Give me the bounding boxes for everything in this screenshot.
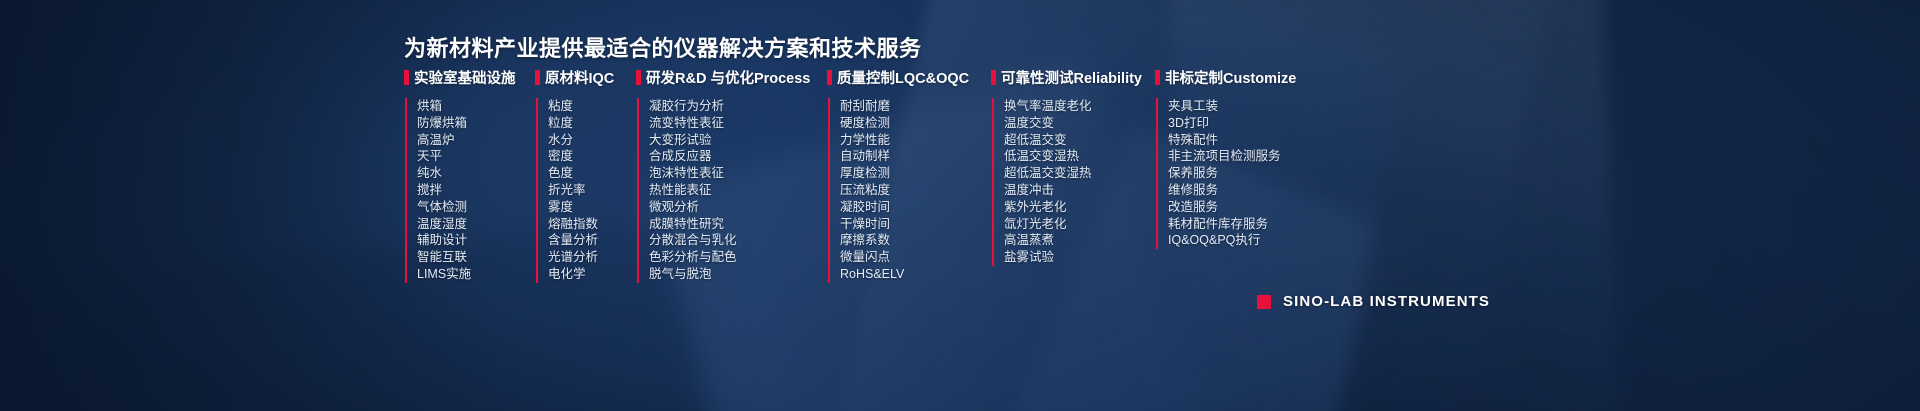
list-item[interactable]: 纯水 [417,165,535,182]
red-bar-icon [827,70,832,85]
category-columns: 实验室基础设施 烘箱 防爆烘箱 高温炉 天平 纯水 搅拌 气体检测 温度湿度 辅… [404,69,1335,283]
category-header-label: 质量控制LQC&OQC [837,67,969,88]
list-item[interactable]: 超低温交变湿热 [1004,165,1155,182]
category-header-label: 非标定制Customize [1165,67,1296,88]
category-column-lab-infrastructure: 实验室基础设施 烘箱 防爆烘箱 高温炉 天平 纯水 搅拌 气体检测 温度湿度 辅… [404,69,535,283]
list-item[interactable]: 温度冲击 [1004,182,1155,199]
list-item[interactable]: 温度交变 [1004,115,1155,132]
list-item[interactable]: 折光率 [548,182,636,199]
category-header-label: 实验室基础设施 [414,67,516,88]
list-item[interactable]: 粘度 [548,98,636,115]
list-item[interactable]: 压流粘度 [840,182,991,199]
list-item[interactable]: 合成反应器 [649,148,827,165]
red-bar-icon [535,70,540,85]
red-bar-icon [404,70,409,85]
category-header: 实验室基础设施 [404,69,535,86]
list-item[interactable]: 换气率温度老化 [1004,98,1155,115]
category-header-label: 可靠性测试Reliability [1001,67,1142,88]
list-item[interactable]: 色彩分析与配色 [649,249,827,266]
list-item[interactable]: 干燥时间 [840,216,991,233]
list-item[interactable]: 大变形试验 [649,132,827,149]
list-item[interactable]: 防爆烘箱 [417,115,535,132]
list-item[interactable]: 含量分析 [548,232,636,249]
list-item[interactable]: 维修服务 [1168,182,1335,199]
category-header: 非标定制Customize [1155,69,1335,86]
list-item[interactable]: IQ&OQ&PQ执行 [1168,232,1335,249]
list-item[interactable]: 成膜特性研究 [649,216,827,233]
brand-footer: SINO-LAB INSTRUMENTS [1257,293,1490,310]
red-bar-icon [636,70,641,85]
category-item-list: 粘度 粒度 水分 密度 色度 折光率 雾度 熔融指数 含量分析 光谱分析 电化学 [536,98,636,283]
category-header: 原材料IQC [535,69,636,86]
list-item[interactable]: 保养服务 [1168,165,1335,182]
list-item[interactable]: 力学性能 [840,132,991,149]
category-item-list: 夹具工装 3D打印 特殊配件 非主流项目检测服务 保养服务 维修服务 改造服务 … [1156,98,1335,249]
list-item[interactable]: 特殊配件 [1168,132,1335,149]
category-column-rd-process: 研发R&D 与优化Process 凝胶行为分析 流变特性表征 大变形试验 合成反… [636,69,827,283]
list-item[interactable]: 智能互联 [417,249,535,266]
list-item[interactable]: 天平 [417,148,535,165]
list-item[interactable]: 自动制样 [840,148,991,165]
list-item[interactable]: 氙灯光老化 [1004,216,1155,233]
category-header: 可靠性测试Reliability [991,69,1155,86]
list-item[interactable]: 3D打印 [1168,115,1335,132]
list-item[interactable]: 热性能表征 [649,182,827,199]
list-item[interactable]: 微观分析 [649,199,827,216]
list-item[interactable]: 泡沫特性表征 [649,165,827,182]
list-item[interactable]: 摩擦系数 [840,232,991,249]
list-item[interactable]: 温度湿度 [417,216,535,233]
brand-name: SINO-LAB INSTRUMENTS [1283,293,1490,310]
category-column-raw-material-iqc: 原材料IQC 粘度 粒度 水分 密度 色度 折光率 雾度 熔融指数 含量分析 光… [535,69,636,283]
list-item[interactable]: 光谱分析 [548,249,636,266]
category-item-list: 换气率温度老化 温度交变 超低温交变 低温交变湿热 超低温交变湿热 温度冲击 紫… [992,98,1155,266]
list-item[interactable]: 电化学 [548,266,636,283]
category-item-list: 烘箱 防爆烘箱 高温炉 天平 纯水 搅拌 气体检测 温度湿度 辅助设计 智能互联… [405,98,535,283]
red-bar-icon [991,70,996,85]
category-column-quality-control: 质量控制LQC&OQC 耐刮耐磨 硬度检测 力学性能 自动制样 厚度检测 压流粘… [827,69,991,283]
category-header-label: 研发R&D 与优化Process [646,67,810,88]
red-square-logo-icon [1257,295,1271,309]
list-item[interactable]: 雾度 [548,199,636,216]
page-title: 为新材料产业提供最适合的仪器解决方案和技术服务 [404,31,922,63]
category-header: 研发R&D 与优化Process [636,69,827,86]
category-column-reliability: 可靠性测试Reliability 换气率温度老化 温度交变 超低温交变 低温交变… [991,69,1155,266]
list-item[interactable]: 色度 [548,165,636,182]
list-item[interactable]: 高温蒸煮 [1004,232,1155,249]
list-item[interactable]: 盐雾试验 [1004,249,1155,266]
list-item[interactable]: 紫外光老化 [1004,199,1155,216]
list-item[interactable]: 密度 [548,148,636,165]
list-item[interactable]: 搅拌 [417,182,535,199]
red-bar-icon [1155,70,1160,85]
list-item[interactable]: 厚度检测 [840,165,991,182]
list-item[interactable]: RoHS&ELV [840,266,991,283]
list-item[interactable]: 高温炉 [417,132,535,149]
list-item[interactable]: 低温交变湿热 [1004,148,1155,165]
list-item[interactable]: 水分 [548,132,636,149]
list-item[interactable]: 烘箱 [417,98,535,115]
list-item[interactable]: 耐刮耐磨 [840,98,991,115]
category-header-label: 原材料IQC [545,67,614,88]
list-item[interactable]: 微量闪点 [840,249,991,266]
list-item[interactable]: 耗材配件库存服务 [1168,216,1335,233]
list-item[interactable]: 脱气与脱泡 [649,266,827,283]
list-item[interactable]: 熔融指数 [548,216,636,233]
category-item-list: 凝胶行为分析 流变特性表征 大变形试验 合成反应器 泡沫特性表征 热性能表征 微… [637,98,827,283]
category-header: 质量控制LQC&OQC [827,69,991,86]
category-column-customize: 非标定制Customize 夹具工装 3D打印 特殊配件 非主流项目检测服务 保… [1155,69,1335,249]
list-item[interactable]: LIMS实施 [417,266,535,283]
list-item[interactable]: 辅助设计 [417,232,535,249]
list-item[interactable]: 夹具工装 [1168,98,1335,115]
list-item[interactable]: 硬度检测 [840,115,991,132]
list-item[interactable]: 凝胶行为分析 [649,98,827,115]
list-item[interactable]: 非主流项目检测服务 [1168,148,1335,165]
list-item[interactable]: 粒度 [548,115,636,132]
banner-content: 为新材料产业提供最适合的仪器解决方案和技术服务 实验室基础设施 烘箱 防爆烘箱 … [0,0,1920,411]
list-item[interactable]: 气体检测 [417,199,535,216]
list-item[interactable]: 流变特性表征 [649,115,827,132]
list-item[interactable]: 改造服务 [1168,199,1335,216]
list-item[interactable]: 凝胶时间 [840,199,991,216]
list-item[interactable]: 超低温交变 [1004,132,1155,149]
list-item[interactable]: 分散混合与乳化 [649,232,827,249]
category-item-list: 耐刮耐磨 硬度检测 力学性能 自动制样 厚度检测 压流粘度 凝胶时间 干燥时间 … [828,98,991,283]
